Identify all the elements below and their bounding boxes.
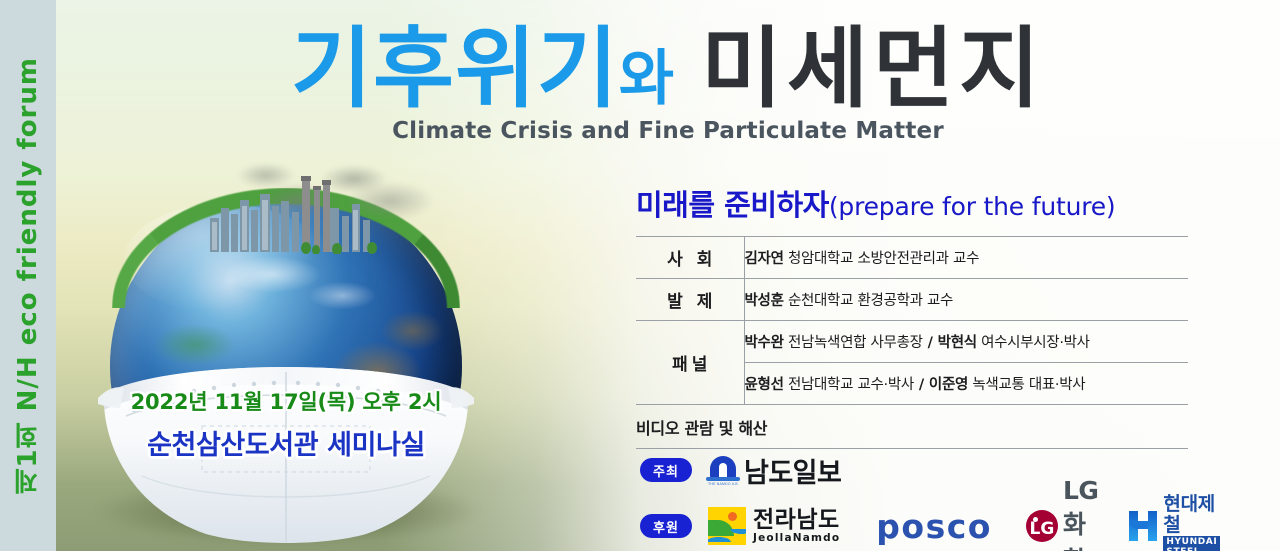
- panelist-1-name: 박수완: [745, 335, 784, 351]
- jeollanamdo-logo: 전라남도 JeollaNamdo: [708, 507, 840, 545]
- sidebar: 제1회 N/H eco friendly forum: [0, 0, 56, 551]
- hyundai-steel-name-en: HYUNDAI STEEL: [1163, 536, 1220, 551]
- namdo-ilbo-logo: THE NAMDO ILBO 남도일보: [706, 451, 841, 490]
- table-row: 발 제 박성훈 순천대학교 환경공학과 교수: [636, 279, 1188, 321]
- panel-heading: 미래를 준비하자(prepare for the future): [636, 182, 1188, 224]
- event-date-text: 2022년 11월 17일(목) 오후 2시: [88, 386, 484, 416]
- table-row: 비디오 관람 및 해산: [636, 405, 1188, 449]
- panel-heading-kr: 미래를 준비하자: [636, 188, 829, 222]
- lg-chem-logo: LG LG화학: [1026, 476, 1098, 551]
- agenda-label-panelists: 패널: [636, 321, 744, 405]
- presenter-name: 박성훈: [745, 293, 784, 309]
- logo-section: 주최 THE NAMDO ILBO 남도일보 후원 전라남도 Jeolla: [640, 446, 1200, 550]
- panel-heading-en: (prepare for the future): [829, 192, 1116, 221]
- jeollanamdo-mark-icon: [708, 507, 746, 545]
- city-skyline-icon: [206, 174, 386, 254]
- table-row: 패널 박수완 전남녹색연합 사무총장/박현식 여수시부시장·박사: [636, 321, 1188, 363]
- agenda-value-panelists-2: 윤형선 전남대학교 교수·박사/이준영 녹색교통 대표·박사: [744, 363, 1188, 405]
- globe-caption: 2022년 11월 17일(목) 오후 2시 순천삼산도서관 세미나실: [88, 386, 484, 462]
- panelist-separator-1: /: [923, 335, 938, 351]
- panelist-2-detail: 여수시부시장·박사: [981, 335, 1090, 351]
- panelist-4-name: 이준영: [929, 377, 968, 393]
- sponsor-badge: 후원: [640, 514, 692, 538]
- posco-logo: posco: [876, 510, 992, 543]
- lg-face-mark-icon: LG: [1026, 510, 1058, 542]
- event-venue-text: 순천삼산도서관 세미나실: [88, 423, 484, 462]
- lg-chem-name: LG화학: [1063, 476, 1098, 551]
- agenda-closing-row: 비디오 관람 및 해산: [636, 405, 1188, 449]
- hyundai-h-mark-icon: [1128, 511, 1158, 541]
- agenda-table: 사 회 김자연 청암대학교 소방안전관리과 교수 발 제 박성훈 순천대학교 환…: [636, 236, 1188, 449]
- agenda-label-presenter: 발 제: [636, 279, 744, 321]
- presenter-detail: 순천대학교 환경공학과 교수: [788, 293, 953, 309]
- hyundai-steel-name-kr: 현대제철: [1163, 494, 1220, 536]
- host-row: 주최 THE NAMDO ILBO 남도일보: [640, 446, 1200, 494]
- globe-illustration: 2022년 11월 17일(목) 오후 2시 순천삼산도서관 세미나실: [88, 148, 484, 548]
- program-panel: 미래를 준비하자(prepare for the future) 사 회 김자연…: [636, 182, 1188, 449]
- sponsor-row: 후원 전라남도 JeollaNamdo posco LG LG화학: [640, 502, 1200, 550]
- table-row: 사 회 김자연 청암대학교 소방안전관리과 교수: [636, 237, 1188, 279]
- panelist-3-detail: 전남대학교 교수·박사: [788, 377, 914, 393]
- hyundai-steel-logo: 현대제철 HYUNDAI STEEL: [1128, 494, 1220, 551]
- panelist-2-name: 박현식: [938, 335, 977, 351]
- namdo-ilbo-mark-icon: THE NAMDO ILBO: [706, 454, 740, 486]
- panelist-3-name: 윤형선: [745, 377, 784, 393]
- agenda-label-moderator: 사 회: [636, 237, 744, 279]
- host-badge: 주최: [640, 458, 692, 482]
- agenda-value-panelists-1: 박수완 전남녹색연합 사무총장/박현식 여수시부시장·박사: [744, 321, 1188, 363]
- agenda-value-moderator: 김자연 청암대학교 소방안전관리과 교수: [744, 237, 1188, 279]
- moderator-name: 김자연: [745, 251, 784, 267]
- namdo-ilbo-tagline: THE NAMDO ILBO: [708, 482, 738, 486]
- panelist-separator-2: /: [914, 377, 929, 393]
- jeollanamdo-name-en: JeollaNamdo: [753, 532, 840, 544]
- panelist-4-detail: 녹색교통 대표·박사: [972, 377, 1085, 393]
- agenda-value-presenter: 박성훈 순천대학교 환경공학과 교수: [744, 279, 1188, 321]
- moderator-detail: 청암대학교 소방안전관리과 교수: [788, 251, 979, 267]
- event-poster: 제1회 N/H eco friendly forum: [0, 0, 1280, 551]
- lg-mark-text: LG: [1026, 510, 1058, 542]
- host-name: 남도일보: [744, 451, 841, 490]
- panelist-1-detail: 전남녹색연합 사무총장: [788, 335, 923, 351]
- sidebar-forum-label: 제1회 N/H eco friendly forum: [15, 57, 41, 494]
- jeollanamdo-name-kr: 전라남도: [753, 508, 840, 532]
